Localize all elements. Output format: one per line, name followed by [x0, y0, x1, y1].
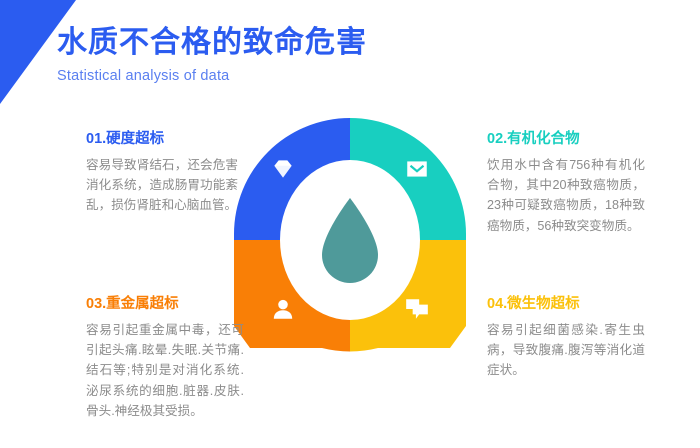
card-body: 容易引起重金属中毒，还可引起头痛.眩晕.失眠.关节痛.结石等;特别是对消化系统.… [86, 320, 244, 422]
card-heading: 01.硬度超标 [86, 130, 238, 150]
card-body: 饮用水中含有756种有机化合物，其中20种致癌物质，23种可疑致癌物质，18种致… [487, 155, 645, 237]
card-body: 容易导致肾结石，还会危害消化系统，造成肠胃功能紊乱，损伤肾脏和心脑血管。 [86, 155, 238, 216]
card-heading: 02.有机化合物 [487, 130, 645, 150]
card-heavy-metals: 03.重金属超标 容易引起重金属中毒，还可引起头痛.眩晕.失眠.关节痛.结石等;… [86, 295, 244, 422]
quadrant-top-right[interactable] [350, 112, 472, 240]
header: 水质不合格的致命危害 Statistical analysis of data [57, 24, 477, 84]
card-organic-compounds: 02.有机化合物 饮用水中含有756种有机化合物，其中20种致癌物质，23种可疑… [487, 130, 645, 236]
card-microorganisms: 04.微生物超标 容易引起细菌感染.寄生虫病，导致腹痛.腹泻等消化道症状。 [487, 295, 645, 381]
card-heading: 04.微生物超标 [487, 295, 645, 315]
ring-svg [228, 112, 472, 368]
card-heading: 03.重金属超标 [86, 295, 244, 315]
card-body: 容易引起细菌感染.寄生虫病，导致腹痛.腹泻等消化道症状。 [487, 320, 645, 381]
card-hardness: 01.硬度超标 容易导致肾结石，还会危害消化系统，造成肠胃功能紊乱，损伤肾脏和心… [86, 130, 238, 216]
center-ring-graphic [228, 112, 472, 368]
quadrant-top-left[interactable] [228, 112, 350, 240]
page-title: 水质不合格的致命危害 [57, 24, 477, 62]
infographic-slide: 水质不合格的致命危害 Statistical analysis of data [0, 0, 700, 448]
page-subtitle: Statistical analysis of data [57, 68, 477, 84]
